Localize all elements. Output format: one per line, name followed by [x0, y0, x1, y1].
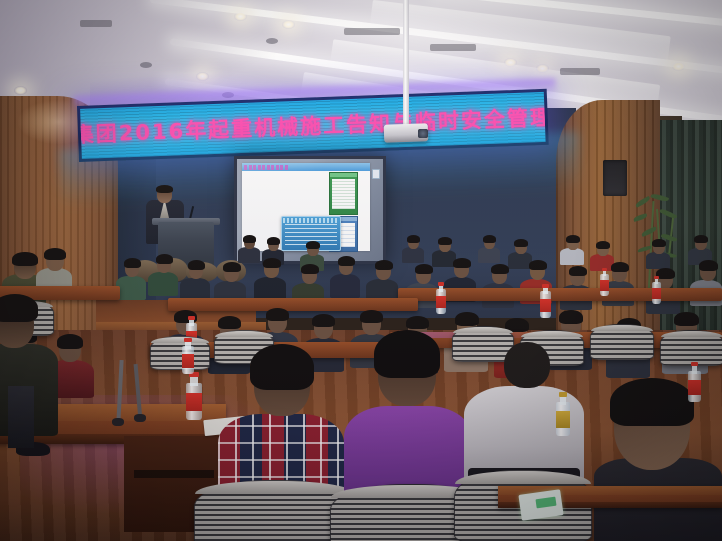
projector-mount-pole	[403, 0, 409, 128]
front-desk-shelf	[134, 470, 214, 478]
water-bottle	[688, 362, 701, 402]
water-bottle	[182, 338, 194, 374]
ceiling-vent	[344, 28, 400, 35]
ceiling-vent	[430, 44, 476, 51]
ceiling-spotlight	[234, 12, 247, 21]
list-item	[560, 236, 584, 264]
water-bottle	[556, 392, 570, 436]
ceiling-spotlight	[536, 64, 549, 73]
projector-lens-icon	[418, 129, 428, 138]
smoke-detector-icon	[266, 38, 278, 44]
audience-chair	[660, 330, 722, 366]
water-bottle	[436, 282, 446, 314]
ceiling-spotlight	[282, 20, 295, 29]
app-titlebar	[242, 163, 370, 171]
ceiling-spotlight	[504, 58, 517, 67]
ceiling-vent	[560, 68, 600, 75]
app-green-side-panel	[329, 172, 358, 215]
conference-hall-photo: 山河集团2016年起重机械施工告知与临时安全管理培训	[0, 0, 722, 541]
list-item	[478, 236, 500, 262]
audience-chair	[590, 324, 654, 360]
phone-user-attendee	[594, 386, 722, 541]
app-menu-items	[244, 165, 288, 170]
water-bottle	[186, 372, 202, 420]
audience-chair	[150, 336, 210, 370]
chair-caster	[112, 418, 124, 426]
list-item	[148, 256, 178, 294]
wall-speaker-box	[603, 160, 627, 196]
chair-caster	[134, 414, 146, 422]
list-item	[238, 236, 260, 262]
ceiling-spotlight	[14, 86, 27, 95]
ceiling-spotlight	[672, 62, 685, 71]
trouser-leg	[8, 386, 34, 448]
screen-corner-icon	[372, 169, 380, 179]
water-bottle	[600, 268, 609, 296]
water-bottle	[652, 276, 661, 304]
list-item	[402, 236, 424, 262]
ceiling-vent	[80, 20, 112, 27]
presenter-hair	[156, 185, 173, 193]
list-item	[646, 240, 670, 268]
smoke-detector-icon	[140, 62, 152, 68]
water-bottle	[540, 284, 551, 318]
